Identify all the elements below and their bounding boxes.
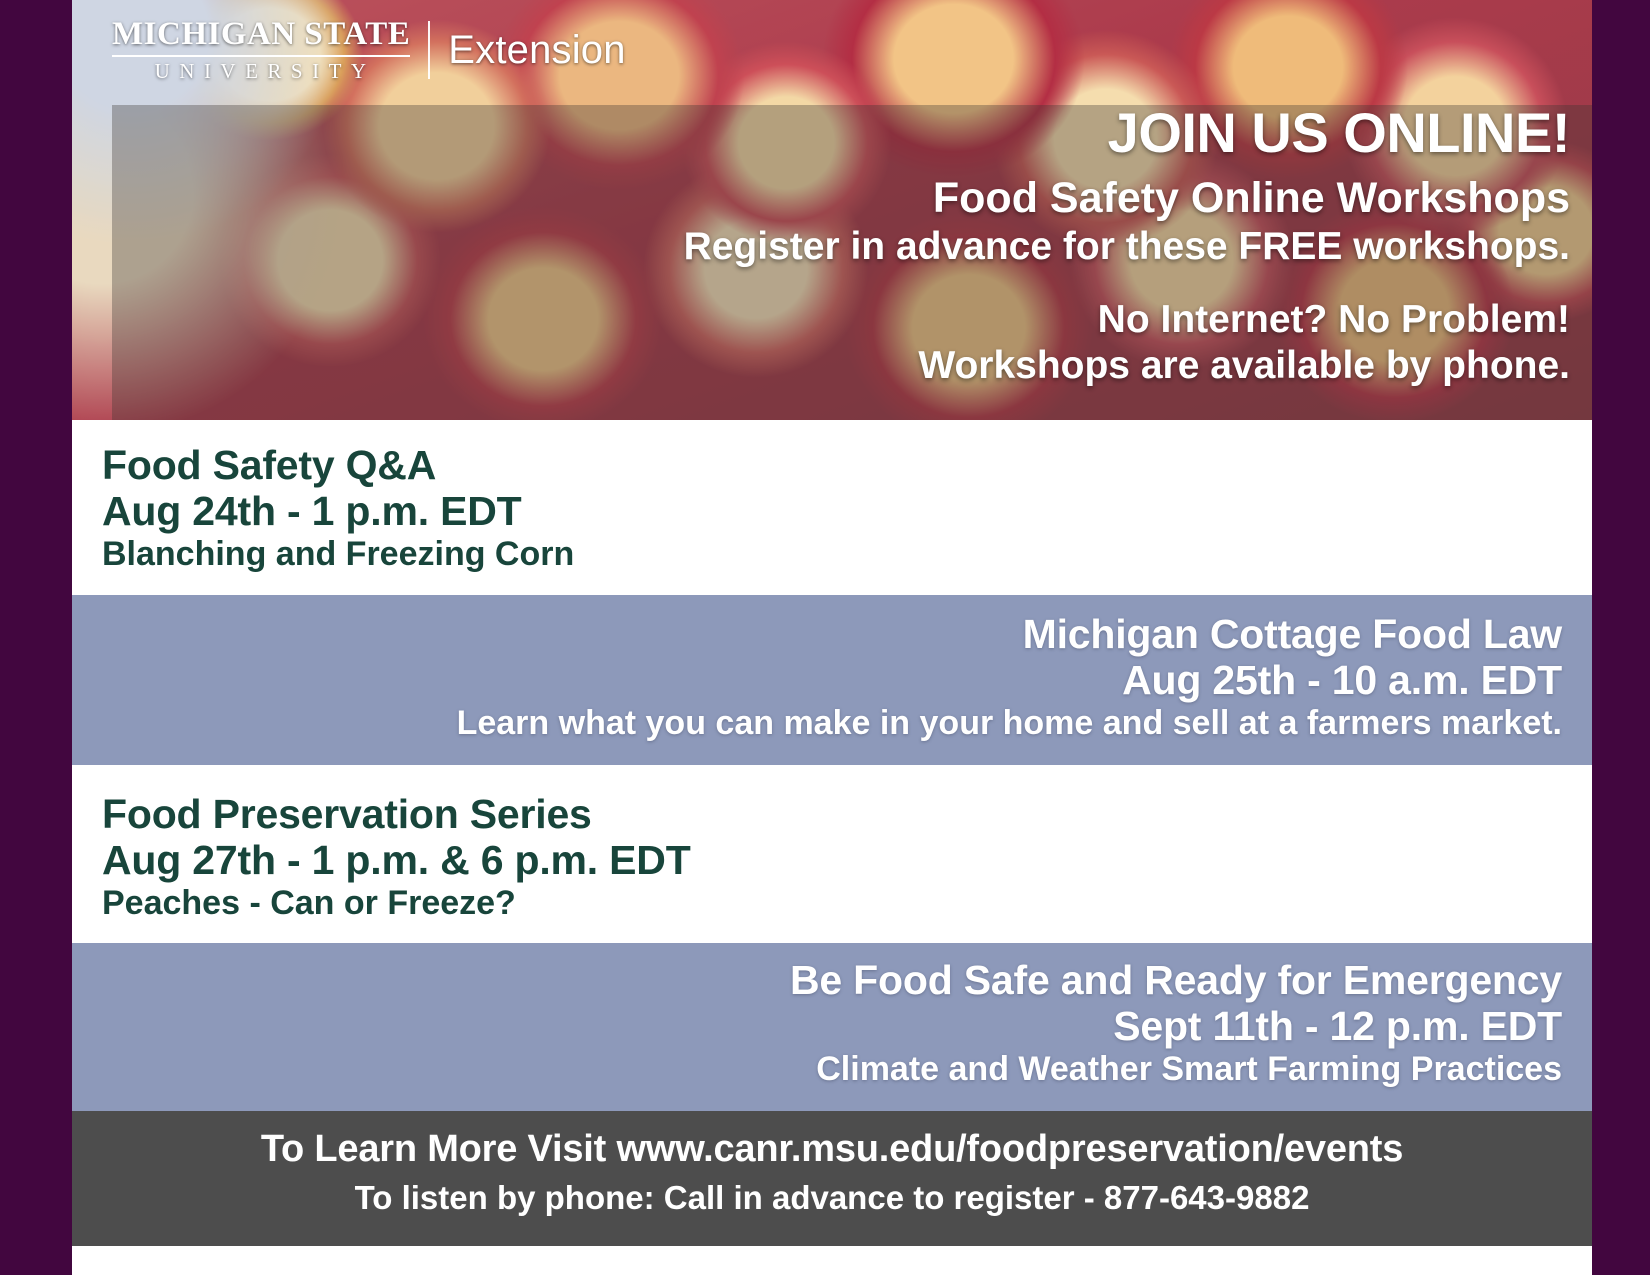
hero-section: MICHIGAN STATE UNIVERSITY Extension JOIN… <box>72 0 1592 420</box>
msu-wordmark-line1: MICHIGAN STATE <box>112 18 410 57</box>
flyer-content-column: MICHIGAN STATE UNIVERSITY Extension JOIN… <box>72 0 1592 1275</box>
msu-wordmark: MICHIGAN STATE UNIVERSITY <box>112 18 410 82</box>
event-date: Aug 27th - 1 p.m. & 6 p.m. EDT <box>102 837 1562 883</box>
event-title: Food Safety Q&A <box>102 442 1562 488</box>
event-band-be-food-safe-ready-for-emergency: Be Food Safe and Ready for Emergency Sep… <box>72 943 1592 1111</box>
event-date: Aug 24th - 1 p.m. EDT <box>102 488 1562 534</box>
event-band-michigan-cottage-food-law: Michigan Cottage Food Law Aug 25th - 10 … <box>72 595 1592 765</box>
event-title: Be Food Safe and Ready for Emergency <box>102 957 1562 1003</box>
logo-divider-rule <box>428 21 430 79</box>
msu-extension-logo: MICHIGAN STATE UNIVERSITY Extension <box>112 18 626 82</box>
event-description: Climate and Weather Smart Farming Practi… <box>102 1050 1562 1089</box>
event-description: Peaches - Can or Freeze? <box>102 884 1562 923</box>
hero-text-block: JOIN US ONLINE! Food Safety Online Works… <box>684 104 1570 390</box>
hero-no-internet-line: No Internet? No Problem! <box>684 297 1570 344</box>
hero-headline: JOIN US ONLINE! <box>684 104 1570 161</box>
footer-section: To Learn More Visit www.canr.msu.edu/foo… <box>72 1111 1592 1246</box>
event-band-food-preservation-series: Food Preservation Series Aug 27th - 1 p.… <box>72 765 1592 943</box>
event-title: Michigan Cottage Food Law <box>102 611 1562 657</box>
hero-spacer <box>684 271 1570 297</box>
extension-wordmark: Extension <box>448 28 625 73</box>
hero-phone-availability-line: Workshops are available by phone. <box>684 343 1570 390</box>
event-description: Learn what you can make in your home and… <box>102 704 1562 743</box>
event-date: Sept 11th - 12 p.m. EDT <box>102 1003 1562 1049</box>
hero-subhead: Food Safety Online Workshops <box>684 173 1570 224</box>
event-band-food-safety-qa: Food Safety Q&A Aug 24th - 1 p.m. EDT Bl… <box>72 420 1592 595</box>
footer-phone-line[interactable]: To listen by phone: Call in advance to r… <box>72 1173 1592 1218</box>
footer-learn-more-line[interactable]: To Learn More Visit www.canr.msu.edu/foo… <box>72 1127 1592 1173</box>
msu-wordmark-line2: UNIVERSITY <box>112 57 410 82</box>
event-title: Food Preservation Series <box>102 791 1562 837</box>
event-description: Blanching and Freezing Corn <box>102 535 1562 574</box>
flyer-page: MICHIGAN STATE UNIVERSITY Extension JOIN… <box>0 0 1650 1275</box>
hero-register-line: Register in advance for these FREE works… <box>684 224 1570 271</box>
event-date: Aug 25th - 10 a.m. EDT <box>102 657 1562 703</box>
